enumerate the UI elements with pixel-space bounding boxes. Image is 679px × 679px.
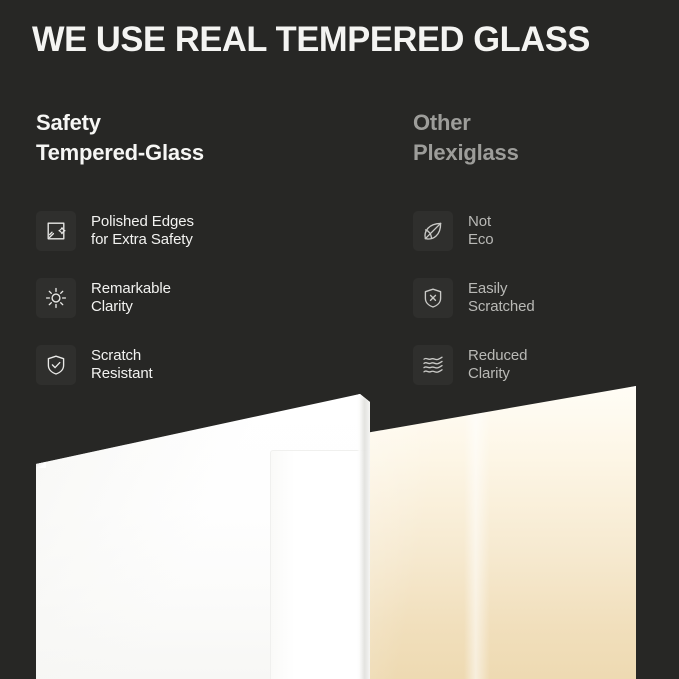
feature-list-left: Polished Edges for Extra Safety xyxy=(36,211,386,412)
feature-label: Reduced Clarity xyxy=(468,347,527,384)
sun-brightness-icon xyxy=(36,278,76,318)
feature-label: Not Eco xyxy=(468,213,494,250)
clear-tempered-glass-panel xyxy=(30,394,370,679)
cream-plexiglass-panel xyxy=(360,386,650,679)
feature-label: Scratch Resistant xyxy=(91,347,153,384)
column-title-right: Other Plexiglass xyxy=(413,108,673,168)
column-title-right-line1: Other xyxy=(413,108,673,138)
feature-row: Not Eco xyxy=(413,211,673,251)
feature-row: Scratch Resistant xyxy=(36,345,386,385)
feature-label: Remarkable Clarity xyxy=(91,280,171,317)
feature-row: Remarkable Clarity xyxy=(36,278,386,318)
glass-panel-illustration xyxy=(0,386,679,679)
column-safety-tempered-glass: Safety Tempered-Glass Polished Edges for… xyxy=(36,108,386,168)
shield-x-icon xyxy=(413,278,453,318)
feature-list-right: Not Eco Easily Scratched xyxy=(413,211,673,412)
column-title-left-line2: Tempered-Glass xyxy=(36,138,386,168)
clear-panel-top-highlight xyxy=(30,394,370,679)
wavy-lines-blur-icon xyxy=(413,345,453,385)
product-comparison-infographic: WE USE REAL TEMPERED GLASS Safety Temper… xyxy=(0,0,679,679)
clear-panel-corner-highlight xyxy=(34,458,46,468)
cream-panel-right-edge xyxy=(644,386,650,679)
feature-label: Easily Scratched xyxy=(468,280,535,317)
feature-row: Reduced Clarity xyxy=(413,345,673,385)
column-title-right-line2: Plexiglass xyxy=(413,138,673,168)
column-other-plexiglass: Other Plexiglass Not Eco xyxy=(413,108,673,168)
feature-label: Polished Edges for Extra Safety xyxy=(91,213,194,250)
column-title-left: Safety Tempered-Glass xyxy=(36,108,386,168)
column-title-left-line1: Safety xyxy=(36,108,386,138)
feature-row: Easily Scratched xyxy=(413,278,673,318)
page-title: WE USE REAL TEMPERED GLASS xyxy=(32,20,653,60)
feature-row: Polished Edges for Extra Safety xyxy=(36,211,386,251)
polished-edge-sparkle-icon xyxy=(36,211,76,251)
cream-panel-top-edge xyxy=(360,386,640,679)
leaf-crossed-out-icon xyxy=(413,211,453,251)
shield-check-icon xyxy=(36,345,76,385)
